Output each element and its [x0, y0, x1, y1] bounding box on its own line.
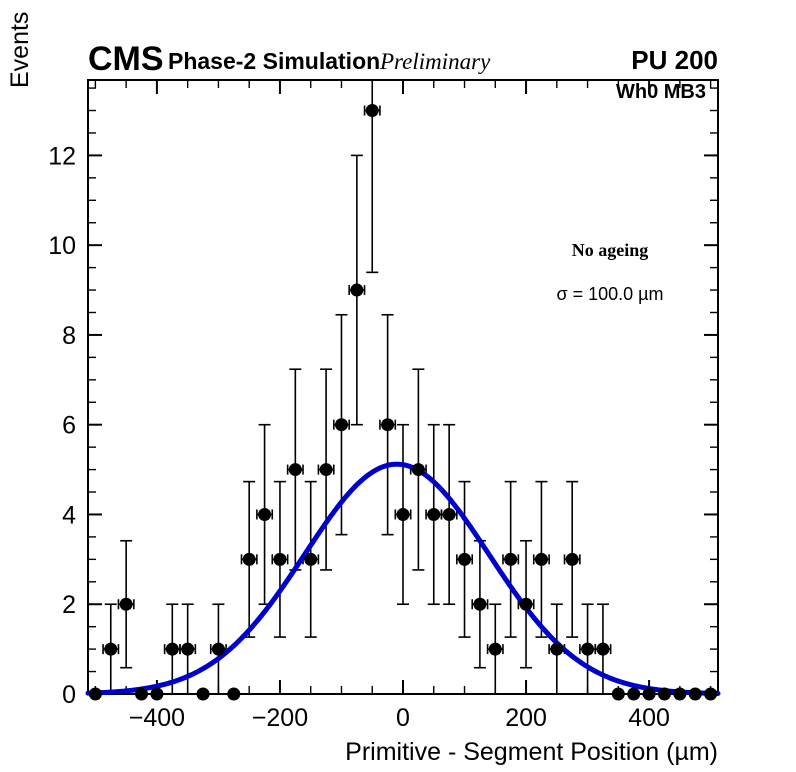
root-svg: CMS Phase-2 Simulation Preliminary PU 20…: [0, 0, 796, 772]
chamber-label: Wh0 MB3: [616, 81, 706, 103]
y-tick-label: 4: [62, 501, 76, 529]
x-axis-title: Primitive - Segment Position (µm): [345, 738, 718, 766]
marker-point: [627, 688, 640, 701]
marker-point: [120, 598, 133, 611]
marker-point: [520, 598, 533, 611]
marker-point: [104, 643, 117, 656]
marker-point: [535, 553, 548, 566]
marker-point: [566, 553, 579, 566]
plot-canvas: CMS Phase-2 Simulation Preliminary PU 20…: [0, 0, 796, 772]
marker-point: [673, 688, 686, 701]
x-tick-label: 0: [396, 704, 410, 732]
marker-point: [612, 688, 625, 701]
marker-point: [243, 553, 256, 566]
marker-point: [350, 284, 363, 297]
cms-subtitle-text: Phase-2 Simulation: [168, 48, 380, 74]
x-tick-label: −400: [129, 704, 185, 732]
marker-point: [489, 643, 502, 656]
marker-point: [197, 688, 210, 701]
marker-point: [504, 553, 517, 566]
marker-point: [320, 463, 333, 476]
y-tick-label: 8: [62, 322, 76, 350]
marker-point: [458, 553, 471, 566]
marker-point: [212, 643, 225, 656]
marker-point: [704, 688, 717, 701]
marker-point: [181, 643, 194, 656]
marker-point: [427, 508, 440, 521]
y-tick-label: 12: [48, 142, 76, 170]
marker-point: [89, 688, 102, 701]
y-tick-label: 10: [48, 232, 76, 260]
marker-point: [550, 643, 563, 656]
marker-point: [150, 688, 163, 701]
marker-point: [596, 643, 609, 656]
pileup-label: PU 200: [631, 45, 718, 75]
x-tick-label: 400: [628, 704, 670, 732]
marker-point: [381, 418, 394, 431]
x-tick-label: −200: [252, 704, 308, 732]
y-tick-label: 2: [62, 591, 76, 619]
cms-logo-text: CMS: [88, 40, 164, 78]
marker-point: [289, 463, 302, 476]
marker-point: [135, 688, 148, 701]
y-tick-label: 6: [62, 412, 76, 440]
marker-point: [473, 598, 486, 611]
marker-point: [273, 553, 286, 566]
marker-point: [335, 418, 348, 431]
marker-point: [258, 508, 271, 521]
y-axis-title: Events: [6, 12, 34, 88]
marker-point: [643, 688, 656, 701]
marker-point: [412, 463, 425, 476]
marker-point: [689, 688, 702, 701]
canvas-background: [0, 0, 796, 772]
marker-point: [443, 508, 456, 521]
marker-point: [166, 643, 179, 656]
ageing-label: No ageing: [572, 240, 649, 260]
sigma-label: σ = 100.0 µm: [556, 284, 663, 304]
marker-point: [397, 508, 410, 521]
marker-point: [227, 688, 240, 701]
marker-point: [658, 688, 671, 701]
marker-point: [366, 104, 379, 117]
cms-preliminary-text: Preliminary: [379, 49, 491, 74]
y-tick-label: 0: [62, 681, 76, 709]
marker-point: [304, 553, 317, 566]
marker-point: [581, 643, 594, 656]
x-tick-label: 200: [505, 704, 547, 732]
